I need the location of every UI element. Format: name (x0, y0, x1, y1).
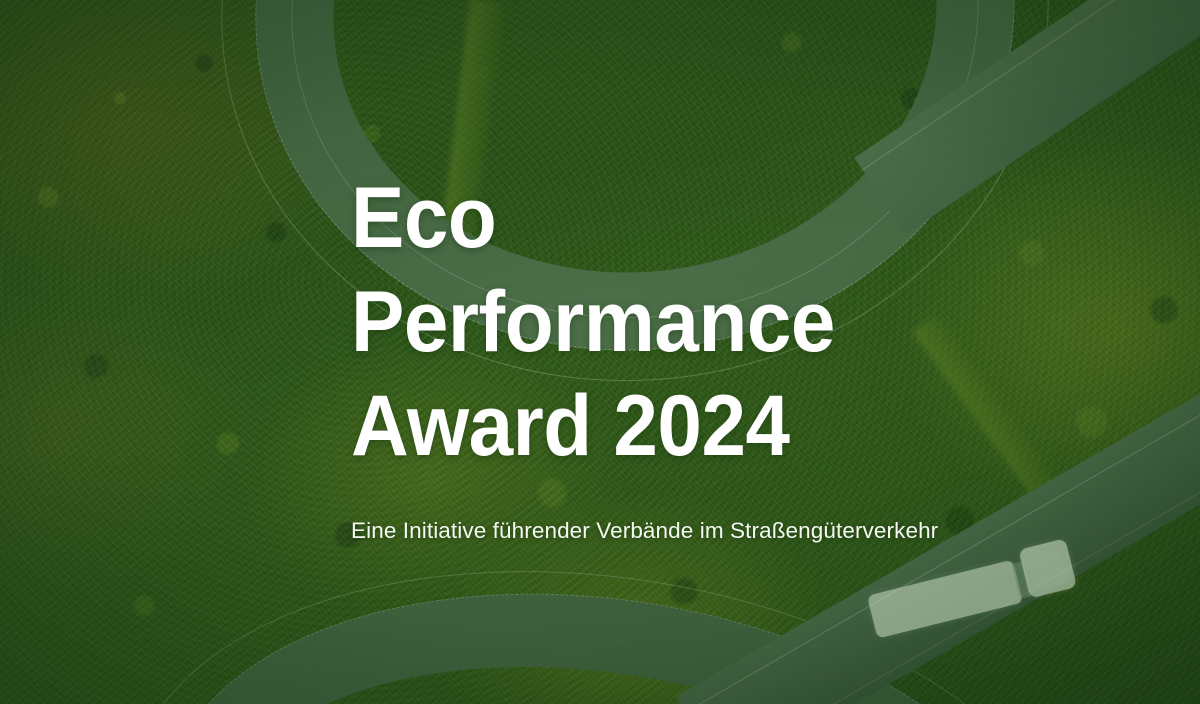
hero-text-block: Eco Performance Award 2024 Eine Initiati… (351, 166, 1111, 546)
headline-line-3: Award 2024 (351, 374, 1058, 478)
headline-line-1: Eco (351, 166, 1058, 270)
hero-banner: Eco Performance Award 2024 Eine Initiati… (0, 0, 1200, 704)
hero-subtitle: Eine Initiative führender Verbände im St… (351, 516, 1111, 546)
headline-line-2: Performance (351, 270, 1058, 374)
